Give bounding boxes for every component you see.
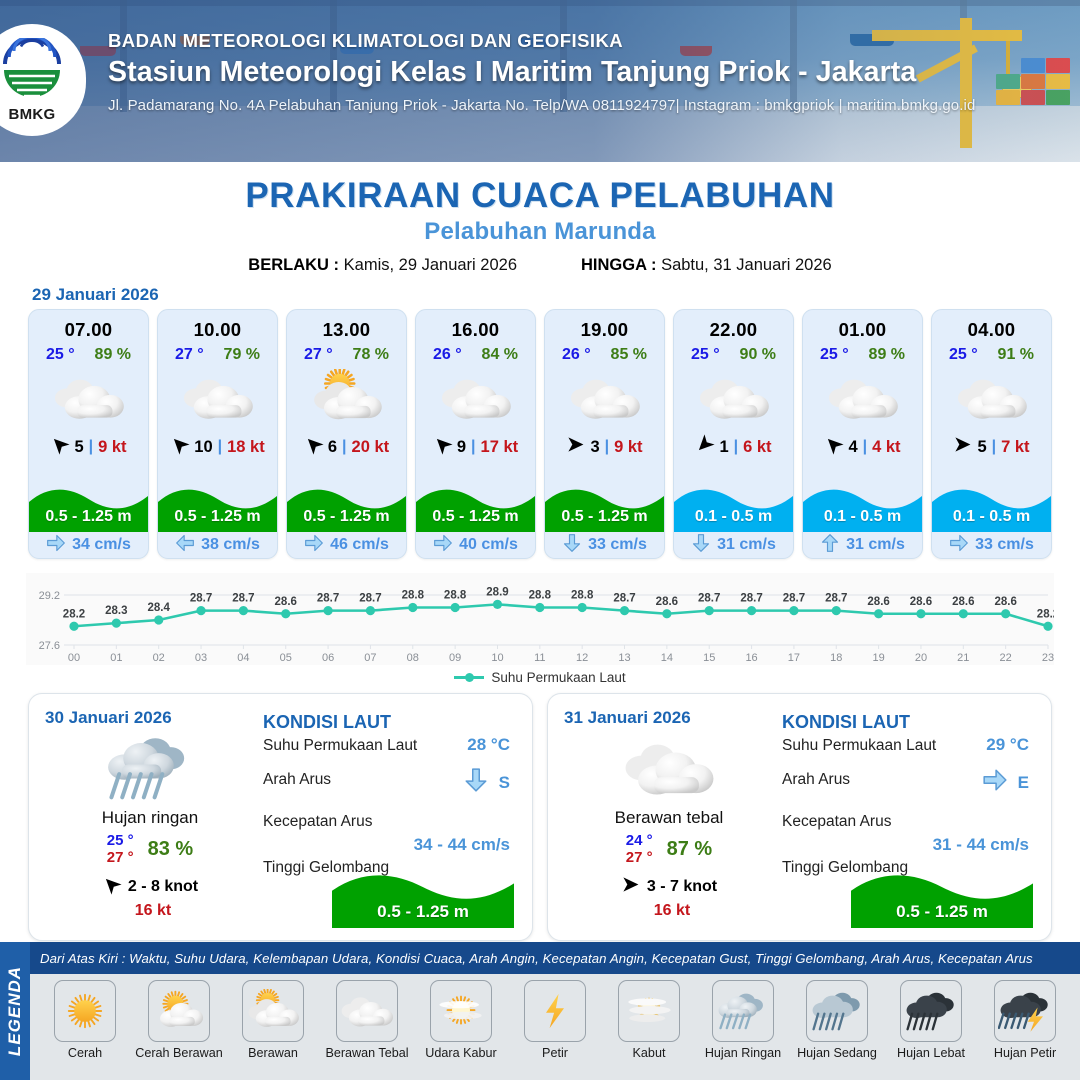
- card-wave-height: 0.5 - 1.25 m: [29, 502, 148, 532]
- udara-kabur-icon: [430, 980, 492, 1042]
- hujan-ringan-icon: [712, 980, 774, 1042]
- berawan-tebal-icon: [932, 367, 1051, 429]
- card-humidity: 84 %: [482, 346, 518, 364]
- port-name: Pelabuhan Marunda: [0, 218, 1080, 246]
- panel-temp-min: 25 °: [107, 832, 134, 849]
- svg-text:28.7: 28.7: [613, 593, 635, 605]
- current-arrow-wrap: [562, 533, 582, 558]
- card-temperature: 25 °: [820, 346, 849, 364]
- legend-item-label: Hujan Sedang: [797, 1046, 877, 1060]
- card-gust: 17 kt: [481, 438, 519, 457]
- wind-direction-arrow: [166, 431, 193, 458]
- panel-left: 31 Januari 2026 Berawan tebal 24 ° 27 ° …: [564, 708, 774, 926]
- sea-row-value: S: [499, 773, 510, 793]
- card-time: 10.00: [158, 319, 277, 341]
- card-humidity: 78 %: [353, 346, 389, 364]
- svg-text:28.7: 28.7: [740, 593, 762, 605]
- legend-item: Hujan Ringan: [698, 980, 788, 1060]
- card-wind-dir: 10: [194, 438, 212, 457]
- svg-text:28.8: 28.8: [529, 590, 552, 602]
- card-current: 33 cm/s: [932, 532, 1051, 558]
- svg-text:28.7: 28.7: [698, 593, 720, 605]
- agency-name: BADAN METEOROLOGI KLIMATOLOGI DAN GEOFIS…: [108, 30, 975, 52]
- card-wave-height: 0.5 - 1.25 m: [416, 502, 535, 532]
- svg-text:28.2: 28.2: [63, 608, 85, 620]
- panel-wave-height: 0.5 - 1.25 m: [332, 902, 514, 922]
- card-wave-zone: 0.5 - 1.25 m 40 cm/s: [416, 482, 535, 558]
- current-arrow-wrap: [46, 533, 66, 558]
- sea-row-value: 34 - 44 cm/s: [414, 835, 510, 855]
- wind-arrow-wrap: [621, 875, 640, 899]
- wind-arrow-wrap: [566, 435, 585, 459]
- card-humidity: 79 %: [224, 346, 260, 364]
- card-gust: 9 kt: [98, 438, 126, 457]
- wind-direction-arrow: [953, 435, 972, 454]
- sst-chart-svg: 29.227.628.20028.30128.40228.70328.70428…: [26, 573, 1054, 665]
- svg-text:28.7: 28.7: [825, 593, 847, 605]
- card-time: 16.00: [416, 319, 535, 341]
- sea-row-value: 31 - 44 cm/s: [933, 835, 1029, 855]
- panel-date: 30 Januari 2026: [45, 708, 255, 728]
- berawan-tebal-icon: [674, 367, 793, 429]
- legend-item-label: Cerah Berawan: [135, 1046, 223, 1060]
- panel-gust: 16 kt: [45, 902, 255, 920]
- card-humidity: 89 %: [95, 346, 131, 364]
- card-wind-dir: 4: [848, 438, 857, 457]
- legend-item: Petir: [510, 980, 600, 1060]
- wind-arrow-wrap: [695, 435, 714, 459]
- sea-condition-title: KONDISI LAUT: [263, 712, 516, 733]
- svg-text:22: 22: [1000, 652, 1012, 664]
- berawan-tebal-icon: [564, 730, 774, 806]
- forecast-card: 01.00 25 ° 89 % 4 | 4 kt: [802, 309, 923, 559]
- legend-item: Kabut: [604, 980, 694, 1060]
- panel-temp-max: 27 °: [107, 849, 134, 866]
- current-arrow-wrap: [820, 533, 840, 558]
- panel-temp-max: 27 °: [626, 849, 653, 866]
- forecast-card: 13.00 27 ° 78 % 6 | 20 kt: [286, 309, 407, 559]
- svg-text:17: 17: [788, 652, 800, 664]
- bmkg-logo-label: BMKG: [0, 106, 69, 123]
- daily-summary-panel: 31 Januari 2026 Berawan tebal 24 ° 27 ° …: [547, 693, 1052, 941]
- card-temperature: 26 °: [433, 346, 462, 364]
- wind-arrow-wrap: [824, 435, 843, 459]
- current-arrow-wrap: [433, 533, 453, 558]
- card-wave-zone: 0.1 - 0.5 m 33 cm/s: [932, 482, 1051, 558]
- svg-text:28.3: 28.3: [105, 605, 127, 617]
- legend-bar: LEGENDA Dari Atas Kiri : Waktu, Suhu Uda…: [0, 942, 1080, 1080]
- berawan-tebal-icon: [158, 367, 277, 429]
- panel-date: 31 Januari 2026: [564, 708, 774, 728]
- valid-to-label: HINGGA :: [581, 256, 656, 274]
- card-wave-height: 0.1 - 0.5 m: [803, 502, 922, 532]
- svg-text:23: 23: [1042, 652, 1054, 664]
- current-arrow-wrap: [691, 533, 711, 558]
- card-wave-height: 0.5 - 1.25 m: [545, 502, 664, 532]
- wind-direction-arrow: [821, 431, 848, 458]
- svg-text:02: 02: [153, 652, 165, 664]
- card-current: 38 cm/s: [158, 532, 277, 558]
- card-current: 46 cm/s: [287, 532, 406, 558]
- card-wind-dir: 5: [977, 438, 986, 457]
- current-dir-group: E: [982, 767, 1029, 798]
- legend-items: Cerah Cerah Berawan: [30, 974, 1080, 1080]
- legend-item-label: Cerah: [68, 1046, 102, 1060]
- card-gust: 4 kt: [872, 438, 900, 457]
- svg-text:10: 10: [491, 652, 503, 664]
- valid-from-value: Kamis, 29 Januari 2026: [344, 256, 517, 274]
- forecast-card: 10.00 27 ° 79 % 10 | 18 kt: [157, 309, 278, 559]
- svg-text:28.6: 28.6: [867, 596, 889, 608]
- sst-chart: 29.227.628.20028.30128.40228.70328.70428…: [0, 573, 1080, 665]
- svg-text:05: 05: [280, 652, 292, 664]
- header-text-block: BADAN METEOROLOGI KLIMATOLOGI DAN GEOFIS…: [108, 30, 975, 114]
- svg-text:28.2: 28.2: [1037, 608, 1054, 620]
- sea-row-current-speed: Kecepatan Arus 31 - 44 cm/s: [782, 809, 1035, 855]
- daily-panels: 30 Januari 2026 Hujan ringan 25 ° 27 ° 8…: [0, 685, 1080, 941]
- hujan-petir-icon: [994, 980, 1056, 1042]
- svg-text:19: 19: [872, 652, 884, 664]
- legend-item-label: Hujan Ringan: [705, 1046, 781, 1060]
- station-name: Stasiun Meteorologi Kelas I Maritim Tanj…: [108, 55, 975, 91]
- panel-humidity: 83 %: [148, 838, 194, 861]
- legend-item-label: Hujan Petir: [994, 1046, 1056, 1060]
- svg-text:28.6: 28.6: [952, 596, 974, 608]
- svg-text:28.6: 28.6: [275, 596, 297, 608]
- card-humidity: 90 %: [740, 346, 776, 364]
- card-current-speed: 40 cm/s: [459, 536, 518, 554]
- forecast-card: 04.00 25 ° 91 % 5 | 7 kt: [931, 309, 1052, 559]
- legend-item-label: Udara Kabur: [425, 1046, 496, 1060]
- wind-separator: |: [863, 438, 867, 456]
- card-gust: 7 kt: [1001, 438, 1029, 457]
- chart-legend-marker: [454, 676, 484, 679]
- panel-temp-col: 24 ° 27 °: [626, 832, 653, 867]
- card-current: 34 cm/s: [29, 532, 148, 558]
- panel-condition: Berawan tebal: [564, 808, 774, 828]
- svg-text:09: 09: [449, 652, 461, 664]
- legend-tab-label: LEGENDA: [5, 966, 25, 1056]
- svg-text:28.7: 28.7: [232, 593, 254, 605]
- card-wave-zone: 0.1 - 0.5 m 31 cm/s: [674, 482, 793, 558]
- berawan-tebal-icon: [29, 367, 148, 429]
- svg-text:01: 01: [110, 652, 122, 664]
- sea-row-label: Suhu Permukaan Laut: [263, 737, 417, 755]
- svg-text:07: 07: [364, 652, 376, 664]
- legend-item: Cerah Berawan: [134, 980, 224, 1060]
- wind-separator: |: [471, 438, 475, 456]
- sea-row-label: Suhu Permukaan Laut: [782, 737, 936, 755]
- berawan-tebal-icon: [336, 980, 398, 1042]
- svg-text:20: 20: [915, 652, 927, 664]
- legend-item: Hujan Sedang: [792, 980, 882, 1060]
- panel-right: KONDISI LAUT Suhu Permukaan Laut 28 °C A…: [255, 708, 516, 926]
- card-humidity: 89 %: [869, 346, 905, 364]
- current-dir-group: S: [463, 767, 510, 798]
- wind-arrow-wrap: [433, 435, 452, 459]
- svg-text:28.8: 28.8: [402, 590, 425, 602]
- legend-item-label: Petir: [542, 1046, 568, 1060]
- wind-direction-arrow: [47, 431, 74, 458]
- current-arrow-wrap: [949, 533, 969, 558]
- wind-arrow-wrap: [50, 435, 69, 459]
- card-time: 01.00: [803, 319, 922, 341]
- card-temperature: 27 °: [175, 346, 204, 364]
- card-wave-height: 0.5 - 1.25 m: [158, 502, 277, 532]
- svg-text:08: 08: [407, 652, 419, 664]
- current-arrow-wrap: [304, 533, 324, 558]
- legend-item-label: Kabut: [633, 1046, 666, 1060]
- chart-legend-label: Suhu Permukaan Laut: [491, 670, 625, 685]
- sea-row-current-dir: Arah Arus E: [782, 767, 1035, 809]
- berawan-tebal-icon: [416, 367, 535, 429]
- card-wind-dir: 6: [328, 438, 337, 457]
- legend-note: Dari Atas Kiri : Waktu, Suhu Udara, Kele…: [40, 951, 1033, 966]
- hujan-ringan-icon: [45, 730, 255, 806]
- sea-row-value: E: [1018, 773, 1029, 793]
- svg-text:28.7: 28.7: [783, 593, 805, 605]
- legend-item: Hujan Petir: [980, 980, 1070, 1060]
- card-wind-dir: 3: [590, 438, 599, 457]
- panel-gust: 16 kt: [564, 902, 774, 920]
- card-wave-height: 0.1 - 0.5 m: [932, 502, 1051, 532]
- card-time: 07.00: [29, 319, 148, 341]
- sea-row-current-dir: Arah Arus S: [263, 767, 516, 809]
- hujan-lebat-icon: [900, 980, 962, 1042]
- svg-text:28.9: 28.9: [486, 586, 508, 598]
- legend-item-label: Berawan Tebal: [325, 1046, 408, 1060]
- valid-from-label: BERLAKU :: [248, 256, 339, 274]
- legend-item: Hujan Lebat: [886, 980, 976, 1060]
- card-wind-dir: 5: [74, 438, 83, 457]
- card-wave-zone: 0.5 - 1.25 m 34 cm/s: [29, 482, 148, 558]
- svg-text:28.6: 28.6: [656, 596, 678, 608]
- forecast-card: 07.00 25 ° 89 % 5 | 9 kt: [28, 309, 149, 559]
- berawan-tebal-icon: [803, 367, 922, 429]
- wind-direction-arrow: [429, 431, 456, 458]
- hujan-sedang-icon: [806, 980, 868, 1042]
- wind-separator: |: [605, 438, 609, 456]
- card-temperature: 26 °: [562, 346, 591, 364]
- legend-item: Udara Kabur: [416, 980, 506, 1060]
- daily-summary-panel: 30 Januari 2026 Hujan ringan 25 ° 27 ° 8…: [28, 693, 533, 941]
- wind-arrow-wrap: [170, 435, 189, 459]
- legend-item-label: Berawan: [248, 1046, 298, 1060]
- card-gust: 20 kt: [352, 438, 390, 457]
- card-wave-zone: 0.1 - 0.5 m 31 cm/s: [803, 482, 922, 558]
- sea-row-value: 28 °C: [467, 735, 510, 755]
- wind-direction-arrow: [621, 875, 640, 894]
- wind-separator: |: [89, 438, 93, 456]
- current-arrow-wrap: [982, 767, 1008, 798]
- card-wave-zone: 0.5 - 1.25 m 46 cm/s: [287, 482, 406, 558]
- wind-arrow-wrap: [953, 435, 972, 459]
- sea-row-label: Arah Arus: [782, 771, 850, 789]
- sea-row-sst: Suhu Permukaan Laut 28 °C: [263, 733, 516, 767]
- panel-temps: 25 ° 27 ° 83 %: [45, 832, 255, 867]
- current-arrow-wrap: [175, 533, 195, 558]
- forecast-date-label: 29 Januari 2026: [32, 285, 1080, 305]
- sea-row-current-speed: Kecepatan Arus 34 - 44 cm/s: [263, 809, 516, 855]
- panel-wind-speed: 3 - 7 knot: [647, 878, 717, 896]
- svg-text:18: 18: [830, 652, 842, 664]
- panel-wave-badge: 0.5 - 1.25 m: [851, 866, 1033, 928]
- sea-row-label: Kecepatan Arus: [263, 813, 372, 831]
- panel-temp-min: 24 °: [626, 832, 653, 849]
- forecast-card: 22.00 25 ° 90 % 1 | 6 kt: [673, 309, 794, 559]
- card-humidity: 91 %: [998, 346, 1034, 364]
- card-current: 31 cm/s: [803, 532, 922, 558]
- wind-separator: |: [218, 438, 222, 456]
- svg-text:28.7: 28.7: [359, 593, 381, 605]
- forecast-card-row: 07.00 25 ° 89 % 5 | 9 kt: [0, 309, 1080, 559]
- panel-wind: 2 - 8 knot: [45, 875, 255, 899]
- card-wave-height: 0.5 - 1.25 m: [287, 502, 406, 532]
- panel-temps: 24 ° 27 ° 87 %: [564, 832, 774, 867]
- legend-item-label: Hujan Lebat: [897, 1046, 965, 1060]
- page-header: BMKG BADAN METEOROLOGI KLIMATOLOGI DAN G…: [0, 0, 1080, 162]
- svg-text:28.4: 28.4: [148, 602, 171, 614]
- legend-item: Berawan Tebal: [322, 980, 412, 1060]
- svg-text:06: 06: [322, 652, 334, 664]
- svg-text:00: 00: [68, 652, 80, 664]
- cerah-icon: [54, 980, 116, 1042]
- wind-separator: |: [734, 438, 738, 456]
- card-time: 04.00: [932, 319, 1051, 341]
- svg-text:16: 16: [745, 652, 757, 664]
- card-humidity: 85 %: [611, 346, 647, 364]
- svg-text:28.8: 28.8: [444, 590, 467, 602]
- wind-direction-arrow: [566, 435, 585, 454]
- wind-direction-arrow: [692, 431, 719, 458]
- station-address: Jl. Padamarang No. 4A Pelabuhan Tanjung …: [108, 97, 975, 114]
- svg-text:28.7: 28.7: [317, 593, 339, 605]
- valid-to: HINGGA : Sabtu, 31 Januari 2026: [581, 256, 832, 275]
- card-current-speed: 46 cm/s: [330, 536, 389, 554]
- sea-condition-title: KONDISI LAUT: [782, 712, 1035, 733]
- svg-text:12: 12: [576, 652, 588, 664]
- card-wind-dir: 9: [457, 438, 466, 457]
- sea-row-value: 29 °C: [986, 735, 1029, 755]
- validity-row: BERLAKU : Kamis, 29 Januari 2026 HINGGA …: [0, 256, 1080, 275]
- legend-item: Berawan: [228, 980, 318, 1060]
- wind-separator: |: [992, 438, 996, 456]
- card-temperature: 27 °: [304, 346, 333, 364]
- chart-legend: Suhu Permukaan Laut: [0, 670, 1080, 685]
- card-time: 19.00: [545, 319, 664, 341]
- kabut-icon: [618, 980, 680, 1042]
- card-gust: 6 kt: [743, 438, 771, 457]
- svg-text:03: 03: [195, 652, 207, 664]
- card-current-speed: 34 cm/s: [72, 536, 131, 554]
- card-current-speed: 33 cm/s: [975, 536, 1034, 554]
- card-current: 31 cm/s: [674, 532, 793, 558]
- page-title: PRAKIRAAN CUACA PELABUHAN: [0, 176, 1080, 216]
- card-temperature: 25 °: [949, 346, 978, 364]
- panel-condition: Hujan ringan: [45, 808, 255, 828]
- svg-text:04: 04: [237, 652, 249, 664]
- card-current-speed: 31 cm/s: [717, 536, 776, 554]
- valid-to-value: Sabtu, 31 Januari 2026: [661, 256, 832, 274]
- panel-wave-height: 0.5 - 1.25 m: [851, 902, 1033, 922]
- berawan-tebal-icon: [545, 367, 664, 429]
- sea-row-label: Arah Arus: [263, 771, 331, 789]
- card-current-speed: 33 cm/s: [588, 536, 647, 554]
- panel-wind-speed: 2 - 8 knot: [128, 878, 198, 896]
- card-current-speed: 31 cm/s: [846, 536, 905, 554]
- sea-row-label: Kecepatan Arus: [782, 813, 891, 831]
- card-wind-dir: 1: [719, 438, 728, 457]
- card-temperature: 25 °: [46, 346, 75, 364]
- panel-humidity: 87 %: [667, 838, 713, 861]
- wind-direction-arrow: [300, 431, 327, 458]
- svg-text:28.8: 28.8: [571, 590, 594, 602]
- card-current: 40 cm/s: [416, 532, 535, 558]
- card-wave-zone: 0.5 - 1.25 m 33 cm/s: [545, 482, 664, 558]
- svg-text:15: 15: [703, 652, 715, 664]
- petir-icon: [524, 980, 586, 1042]
- svg-text:21: 21: [957, 652, 969, 664]
- panel-wind: 3 - 7 knot: [564, 875, 774, 899]
- svg-text:29.2: 29.2: [39, 590, 60, 602]
- wind-arrow-wrap: [102, 875, 121, 899]
- svg-text:14: 14: [661, 652, 673, 664]
- svg-text:28.7: 28.7: [190, 593, 212, 605]
- legend-tab: LEGENDA: [0, 942, 30, 1080]
- wind-direction-arrow: [98, 871, 125, 898]
- card-wave-zone: 0.5 - 1.25 m 38 cm/s: [158, 482, 277, 558]
- card-current: 33 cm/s: [545, 532, 664, 558]
- svg-text:11: 11: [534, 652, 545, 664]
- card-time: 13.00: [287, 319, 406, 341]
- wind-separator: |: [342, 438, 346, 456]
- berawan-icon: [242, 980, 304, 1042]
- valid-from: BERLAKU : Kamis, 29 Januari 2026: [248, 256, 517, 275]
- card-gust: 18 kt: [227, 438, 265, 457]
- forecast-card: 16.00 26 ° 84 % 9 | 17 kt: [415, 309, 536, 559]
- wind-arrow-wrap: [304, 435, 323, 459]
- sea-row-sst: Suhu Permukaan Laut 29 °C: [782, 733, 1035, 767]
- card-wave-height: 0.1 - 0.5 m: [674, 502, 793, 532]
- panel-left: 30 Januari 2026 Hujan ringan 25 ° 27 ° 8…: [45, 708, 255, 926]
- title-block: PRAKIRAAN CUACA PELABUHAN Pelabuhan Maru…: [0, 162, 1080, 275]
- card-time: 22.00: [674, 319, 793, 341]
- card-temperature: 25 °: [691, 346, 720, 364]
- cerah-berawan-icon: [148, 980, 210, 1042]
- card-gust: 9 kt: [614, 438, 642, 457]
- current-arrow-wrap: [463, 767, 489, 798]
- svg-text:13: 13: [618, 652, 630, 664]
- legend-item: Cerah: [40, 980, 130, 1060]
- card-current-speed: 38 cm/s: [201, 536, 260, 554]
- svg-text:28.6: 28.6: [910, 596, 932, 608]
- berawan-icon: [287, 367, 406, 429]
- forecast-card: 19.00 26 ° 85 % 3 | 9 kt: [544, 309, 665, 559]
- svg-text:27.6: 27.6: [39, 640, 60, 652]
- panel-right: KONDISI LAUT Suhu Permukaan Laut 29 °C A…: [774, 708, 1035, 926]
- svg-text:28.6: 28.6: [994, 596, 1016, 608]
- panel-temp-col: 25 ° 27 °: [107, 832, 134, 867]
- panel-wave-badge: 0.5 - 1.25 m: [332, 866, 514, 928]
